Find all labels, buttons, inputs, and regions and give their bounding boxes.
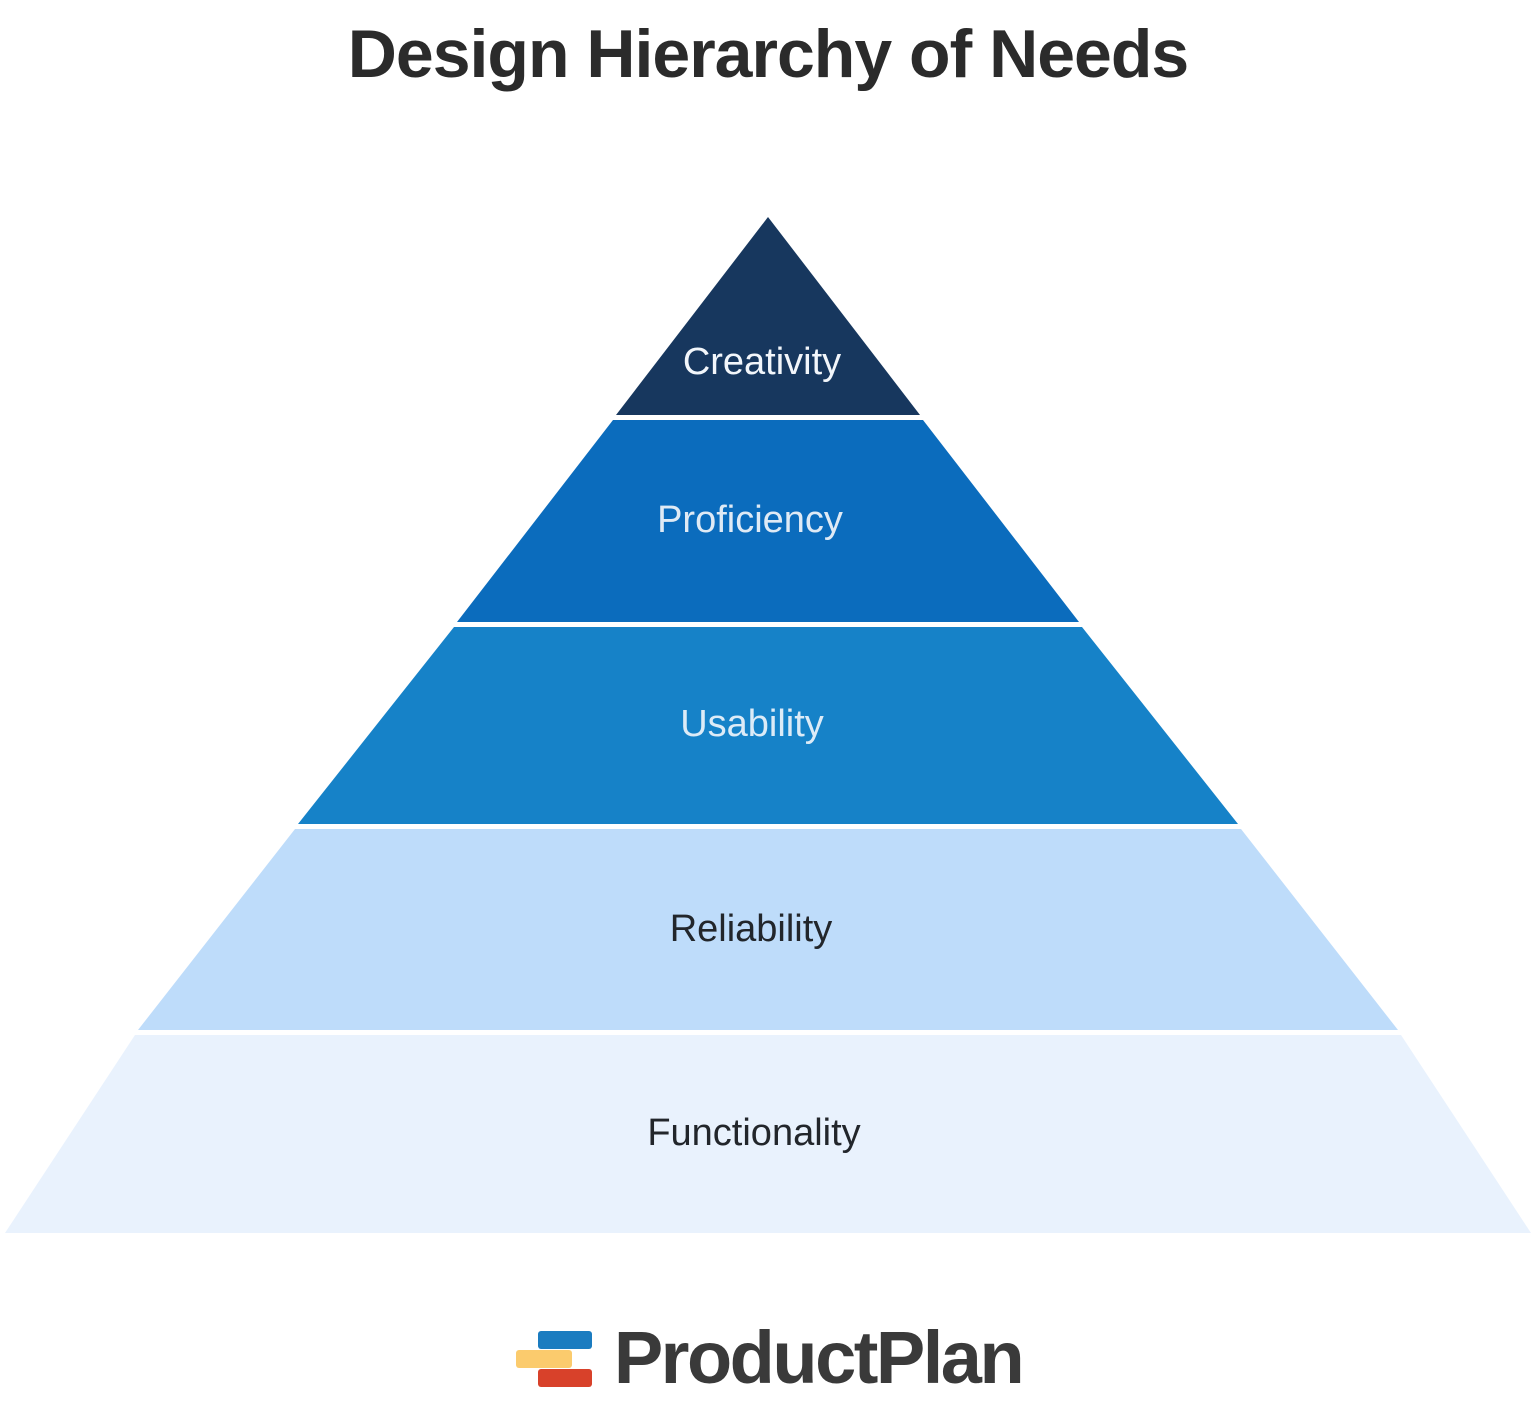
pyramid-tier-creativity-shape[interactable] [616, 217, 920, 415]
pyramid-svg: Creativity Proficiency Usability Reliabi… [0, 0, 1536, 1280]
pyramid-tier-proficiency-label: Proficiency [657, 499, 843, 541]
productplan-logo[interactable]: ProductPlan [0, 1318, 1536, 1398]
pyramid-tier-usability-label: Usability [680, 703, 824, 745]
pyramid-diagram: Creativity Proficiency Usability Reliabi… [0, 0, 1536, 1280]
pyramid-infographic-page: Design Hierarchy of Needs Creativity Pro… [0, 0, 1536, 1417]
pyramid-tier-creativity-label: Creativity [683, 341, 841, 383]
productplan-wordmark: ProductPlan [614, 1318, 1022, 1398]
productplan-logo-mark-icon [514, 1318, 600, 1398]
logo-bar-yellow-icon [516, 1350, 572, 1368]
logo-bar-blue-icon [538, 1331, 592, 1349]
pyramid-tier-functionality-label: Functionality [647, 1112, 860, 1154]
pyramid-tier-reliability-label: Reliability [670, 908, 833, 950]
logo-bar-red-icon [538, 1369, 592, 1387]
